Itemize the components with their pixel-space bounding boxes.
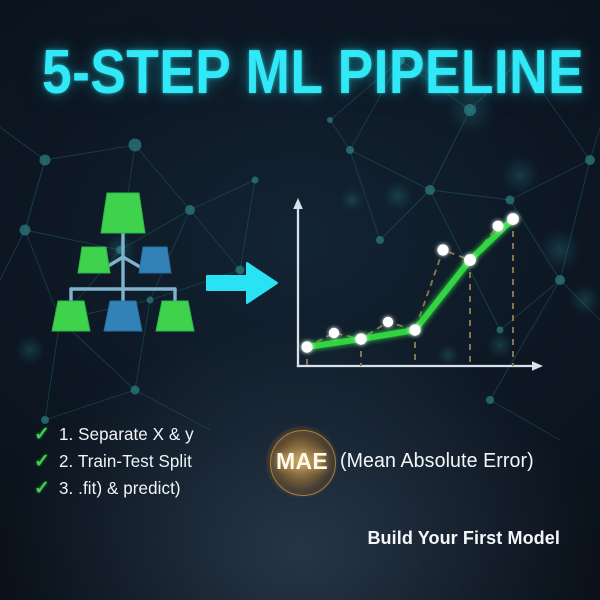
checklist-item-label: 1. Separate X & y xyxy=(59,424,194,445)
x-axis-arrowhead xyxy=(532,361,543,371)
decision-tree-illustration xyxy=(48,185,198,335)
tree-node-leaf-right xyxy=(156,301,194,331)
poster-tagline: Build Your First Model xyxy=(367,528,560,549)
metric-callout: MAE (Mean Absolute Error) xyxy=(268,428,538,494)
list-item: ✓ 1. Separate X & y xyxy=(34,424,284,451)
pipeline-checklist: ✓ 1. Separate X & y ✓ 2. Train-Test Spli… xyxy=(34,424,284,505)
tree-node-mid-right xyxy=(139,247,171,273)
check-icon: ✓ xyxy=(34,425,50,444)
tree-node-root xyxy=(101,193,145,233)
y-axis-arrowhead xyxy=(293,198,303,209)
tree-node-leaf-mid xyxy=(104,301,142,331)
poster-canvas: 5-STEP ML PIPELINE xyxy=(0,0,600,600)
checklist-item-label: 2. Train-Test Split xyxy=(59,451,192,472)
tree-node-mid-left xyxy=(78,247,110,273)
model-fit-line-chart xyxy=(285,185,545,385)
poster-title: 5-STEP ML PIPELINE xyxy=(42,38,558,108)
check-icon: ✓ xyxy=(34,452,50,471)
tree-node-leaf-left xyxy=(52,301,90,331)
checklist-item-label: 3. .fit) & predict) xyxy=(59,478,181,499)
list-item: ✓ 3. .fit) & predict) xyxy=(34,478,284,505)
right-arrow-icon xyxy=(205,258,280,308)
chart-data-markers xyxy=(301,213,519,353)
metric-expansion: (Mean Absolute Error) xyxy=(340,450,534,473)
list-item: ✓ 2. Train-Test Split xyxy=(34,451,284,478)
check-icon: ✓ xyxy=(34,479,50,498)
metric-abbreviation: MAE xyxy=(268,448,336,475)
